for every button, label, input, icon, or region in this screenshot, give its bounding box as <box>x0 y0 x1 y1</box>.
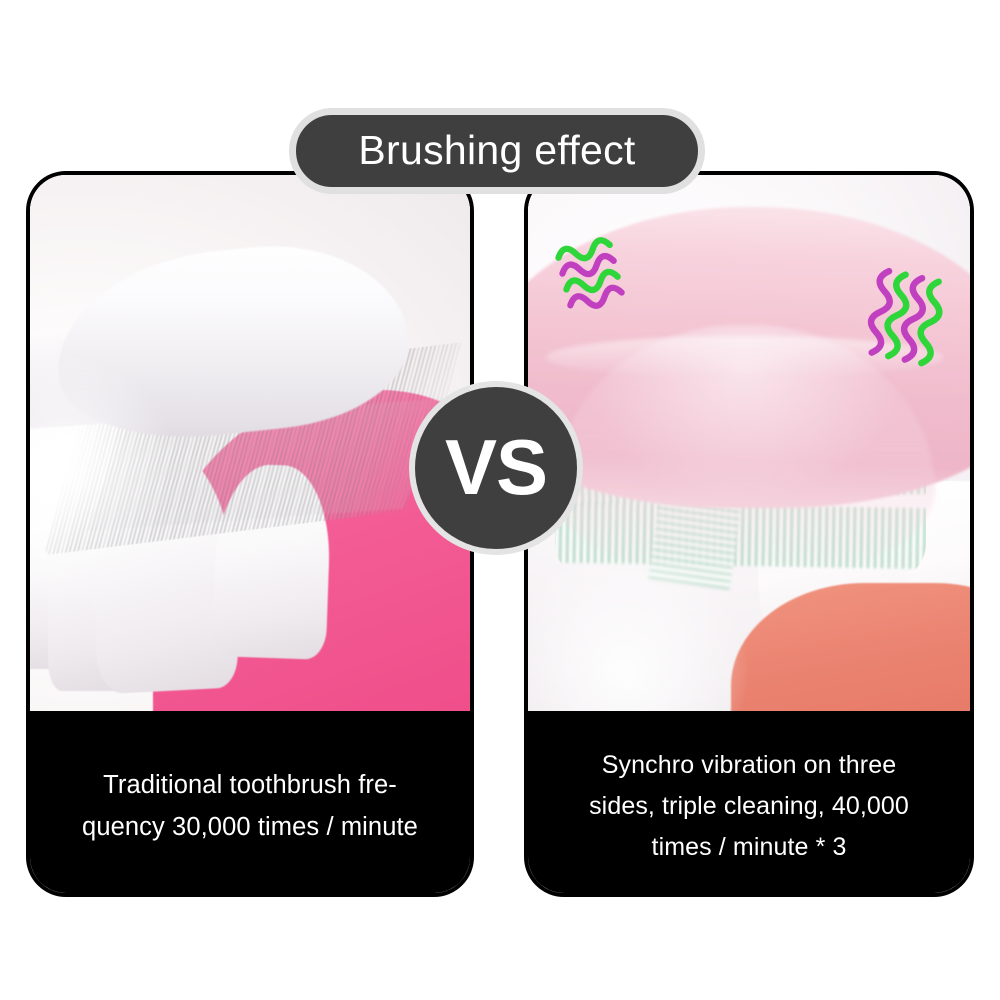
photo-glow-left <box>30 358 180 573</box>
caption-bar-right: Synchro vibration on three sides, triple… <box>528 711 970 897</box>
vs-badge: VS <box>409 381 583 555</box>
product-photo-traditional <box>30 175 470 712</box>
photo-glow-right <box>528 562 758 712</box>
comparison-panel-left: Traditional toothbrush fre- quency 30,00… <box>26 171 474 897</box>
infographic-canvas: Traditional toothbrush fre- quency 30,00… <box>0 0 1000 1000</box>
title-badge: Brushing effect <box>289 108 705 194</box>
page-title: Brushing effect <box>358 130 635 171</box>
caption-bar-left: Traditional toothbrush fre- quency 30,00… <box>30 711 470 897</box>
product-photo-sonic <box>528 175 970 712</box>
vs-label: VS <box>445 428 547 506</box>
comparison-panel-right: Synchro vibration on three sides, triple… <box>524 171 974 897</box>
caption-text-right: Synchro vibration on three sides, triple… <box>571 745 927 868</box>
caption-text-left: Traditional toothbrush fre- quency 30,00… <box>64 764 436 848</box>
